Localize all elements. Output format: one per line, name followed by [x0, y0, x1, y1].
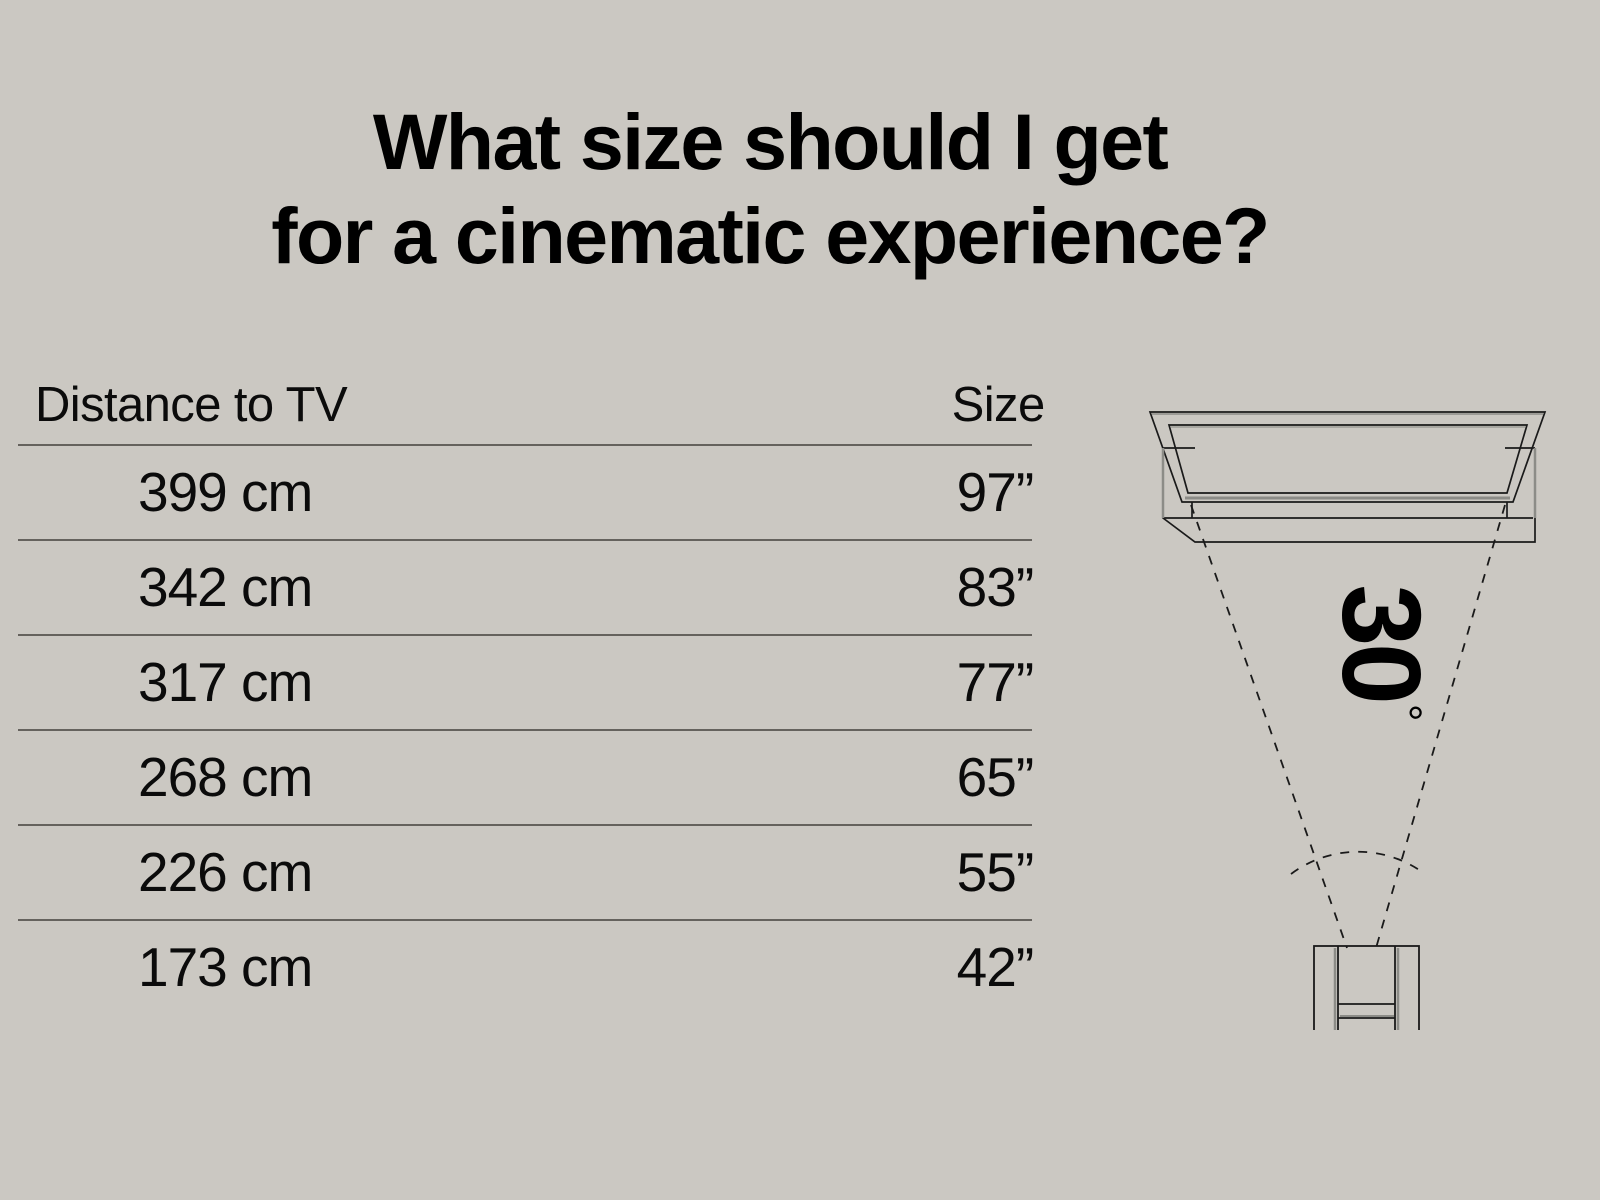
viewing-angle-diagram: [1095, 370, 1600, 1030]
table-row: 268 cm 65”: [18, 730, 1032, 825]
table-row: 317 cm 77”: [18, 635, 1032, 730]
cell-distance: 226 cm: [18, 825, 647, 920]
viewing-cone-lines: [1191, 505, 1505, 948]
column-header-distance: Distance to TV: [18, 366, 647, 445]
cell-size: 55”: [647, 825, 1032, 920]
cell-distance: 342 cm: [18, 540, 647, 635]
tv-top-view-icon: [1150, 412, 1545, 542]
cell-size: 77”: [647, 635, 1032, 730]
cell-distance: 173 cm: [18, 920, 647, 1014]
cell-distance: 317 cm: [18, 635, 647, 730]
cell-size: 42”: [647, 920, 1032, 1014]
angle-arc: [1291, 852, 1425, 874]
table-row: 173 cm 42”: [18, 920, 1032, 1014]
column-header-size: Size: [647, 366, 1032, 445]
infographic-page: What size should I get for a cinematic e…: [0, 0, 1600, 1200]
table-body: 399 cm 97” 342 cm 83” 317 cm 77” 268 cm …: [18, 445, 1032, 1014]
page-title-line-1: What size should I get: [0, 95, 1540, 189]
cell-size: 65”: [647, 730, 1032, 825]
page-title-line-2: for a cinematic experience?: [0, 189, 1540, 283]
table-header-row: Distance to TV Size: [18, 366, 1032, 445]
cell-size: 97”: [647, 445, 1032, 540]
table-row: 342 cm 83”: [18, 540, 1032, 635]
size-guide-table: Distance to TV Size 399 cm 97” 342 cm 83…: [18, 366, 1032, 1014]
table-header: Distance to TV Size: [18, 366, 1032, 445]
table-row: 226 cm 55”: [18, 825, 1032, 920]
table-row: 399 cm 97”: [18, 445, 1032, 540]
cell-size: 83”: [647, 540, 1032, 635]
cell-distance: 268 cm: [18, 730, 647, 825]
cell-distance: 399 cm: [18, 445, 647, 540]
page-title: What size should I get for a cinematic e…: [0, 95, 1540, 283]
sofa-top-view-icon: [1314, 946, 1419, 1030]
distance-size-table: Distance to TV Size 399 cm 97” 342 cm 83…: [18, 366, 1032, 1014]
